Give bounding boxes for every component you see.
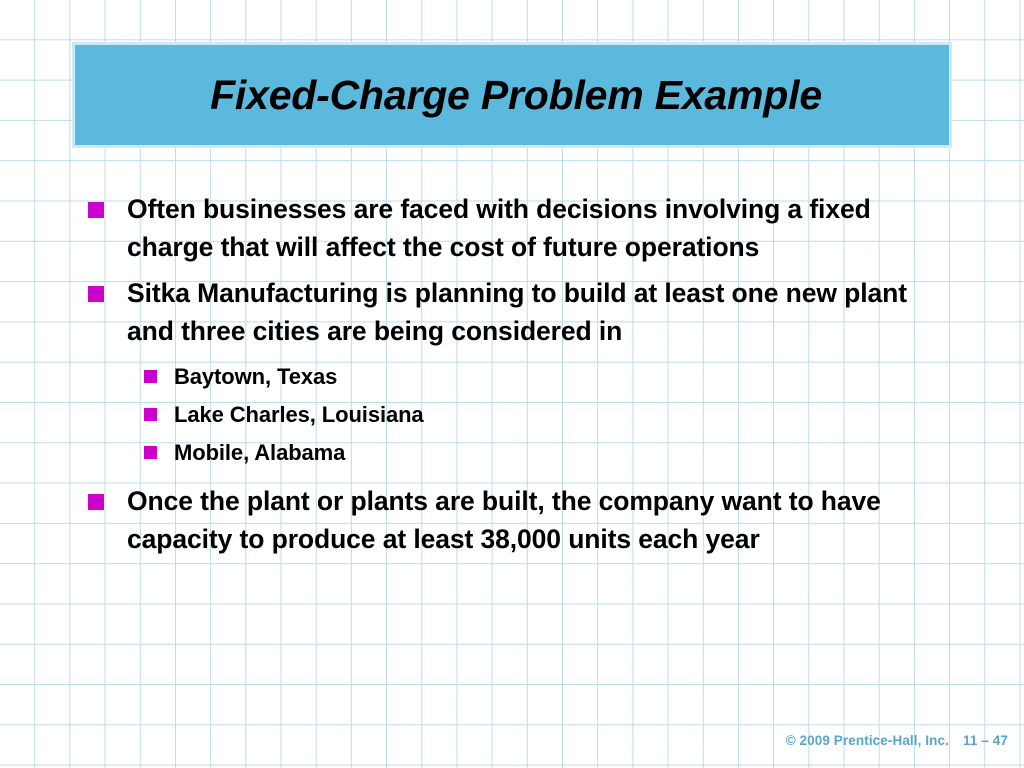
slide-canvas: Fixed-Charge Problem Example Often busin…	[0, 0, 1024, 768]
list-item-label: Often businesses are faced with decision…	[127, 190, 927, 266]
page-title: Fixed-Charge Problem Example	[202, 75, 822, 116]
list-item: Once the plant or plants are built, the …	[0, 482, 1024, 558]
bullet-square-icon	[144, 446, 157, 459]
list-item-label: Mobile, Alabama	[174, 434, 345, 472]
bullet-square-icon	[88, 494, 104, 510]
footer: © 2009 Prentice-Hall, Inc.11 – 47	[786, 733, 1008, 748]
list-item-label: Lake Charles, Louisiana	[174, 396, 424, 434]
bullet-list: Often businesses are faced with decision…	[0, 190, 1024, 560]
spacer	[0, 472, 1024, 482]
list-item: Lake Charles, Louisiana	[0, 396, 1024, 434]
bullet-square-icon	[144, 370, 157, 383]
list-item-label: Once the plant or plants are built, the …	[127, 482, 927, 558]
bullet-square-icon	[88, 286, 104, 302]
page-number: 11 – 47	[963, 733, 1008, 748]
bullet-square-icon	[144, 408, 157, 421]
title-banner: Fixed-Charge Problem Example	[72, 42, 952, 148]
list-item: Mobile, Alabama	[0, 434, 1024, 472]
bullet-square-icon	[88, 202, 104, 218]
list-item: Sitka Manufacturing is planning to build…	[0, 274, 1024, 350]
list-item-label: Baytown, Texas	[174, 358, 337, 396]
list-item-label: Sitka Manufacturing is planning to build…	[127, 274, 927, 350]
list-item: Baytown, Texas	[0, 358, 1024, 396]
copyright-text: © 2009 Prentice-Hall, Inc.	[786, 733, 949, 748]
list-item: Often businesses are faced with decision…	[0, 190, 1024, 266]
